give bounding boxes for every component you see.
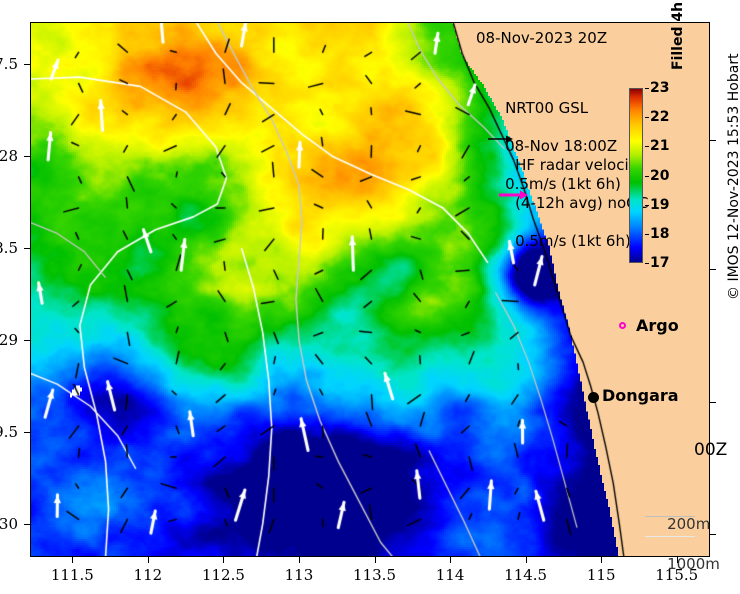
y-axis-label: -29	[0, 331, 18, 349]
x-axis-label: 113	[264, 566, 334, 584]
bathy-1000m-rule	[645, 536, 695, 537]
colorbar-tick-label: 23	[650, 81, 669, 95]
hf-legend-line3: 0.5m/s (1kt 6h)	[515, 232, 631, 250]
argo-marker-icon	[619, 322, 626, 329]
gsl-legend-line1: NRT00 GSL	[505, 99, 588, 117]
x-axis-tick	[299, 557, 300, 563]
x-axis-tick	[526, 557, 527, 563]
hf-legend-line1: HF radar velocity	[515, 156, 643, 174]
y-axis-label: -27.5	[0, 55, 18, 73]
x-axis-label: 112	[113, 566, 183, 584]
dongara-place-label: Dongara	[602, 386, 679, 405]
x-axis-label: 112.5	[188, 566, 258, 584]
y-axis-tick	[24, 248, 30, 249]
y-axis-tick	[24, 64, 30, 65]
colorbar-tick-label: 22	[650, 110, 669, 124]
x-axis-tick	[677, 557, 678, 563]
colorbar-tick	[645, 263, 649, 264]
x-axis-label: 113.5	[340, 566, 410, 584]
dongara-place-marker-icon	[588, 392, 599, 403]
argo-legend-label: Argo	[636, 316, 679, 335]
colorbar-tick-label: 20	[650, 169, 669, 183]
figure-canvas: 08-Nov-2023 20Z NRT00 GSL 08-Nov 18:00Z …	[0, 0, 740, 592]
date-stamp: 08-Nov-2023 20Z	[476, 29, 607, 48]
x-axis-label: 114.5	[491, 566, 561, 584]
x-axis-tick	[148, 557, 149, 563]
colorbar-tick-label: 21	[650, 139, 669, 153]
x-axis-tick	[375, 557, 376, 563]
colorbar-tick	[645, 205, 649, 206]
x-axis-tick	[601, 557, 602, 563]
y-axis-tick	[24, 524, 30, 525]
x-axis-tick	[223, 557, 224, 563]
colorbar-tick-label: 17	[650, 256, 669, 270]
right-frame-tick	[710, 402, 716, 403]
y-axis-tick	[24, 156, 30, 157]
right-frame-tick	[710, 140, 716, 141]
right-frame-tick	[710, 534, 716, 535]
sst-colorbar	[629, 88, 643, 263]
y-axis-label: -29.5	[0, 423, 18, 441]
y-axis-tick	[24, 340, 30, 341]
copyright-notice: © IMOS 12-Nov-2023 15:53 Hobart	[726, 53, 740, 300]
x-axis-label: 114	[415, 566, 485, 584]
y-axis-label: -28.5	[0, 239, 18, 257]
bathy-200m-rule	[645, 516, 695, 517]
x-axis-tick	[72, 557, 73, 563]
x-axis-label: 115	[566, 566, 636, 584]
colorbar-tick	[645, 88, 649, 89]
y-axis-label: -30	[0, 515, 18, 533]
y-axis-tick	[24, 432, 30, 433]
right-frame-tick	[710, 269, 716, 270]
colorbar-tick	[645, 234, 649, 235]
x-axis-label: 111.5	[37, 566, 107, 584]
hf-radar-velocity-arrow-icon	[498, 189, 528, 199]
x-axis-label: 115.5	[642, 566, 712, 584]
x-axis-tick	[450, 557, 451, 563]
colorbar-title: Filled 4h comp, p50, All Sats	[670, 0, 686, 70]
bathy-200m-label: 200m	[667, 515, 710, 533]
colorbar-tick-label: 18	[650, 227, 669, 241]
colorbar-tick	[645, 146, 649, 147]
y-axis-label: -28	[0, 147, 18, 165]
colorbar-tick-label: 19	[650, 198, 669, 212]
clipped-time-text: 00Z	[694, 440, 727, 460]
colorbar-tick	[645, 176, 649, 177]
colorbar-tick	[645, 117, 649, 118]
hf-radar-legend-text: HF radar velocity (4-12h avg) noQC 0.5m/…	[496, 137, 648, 270]
